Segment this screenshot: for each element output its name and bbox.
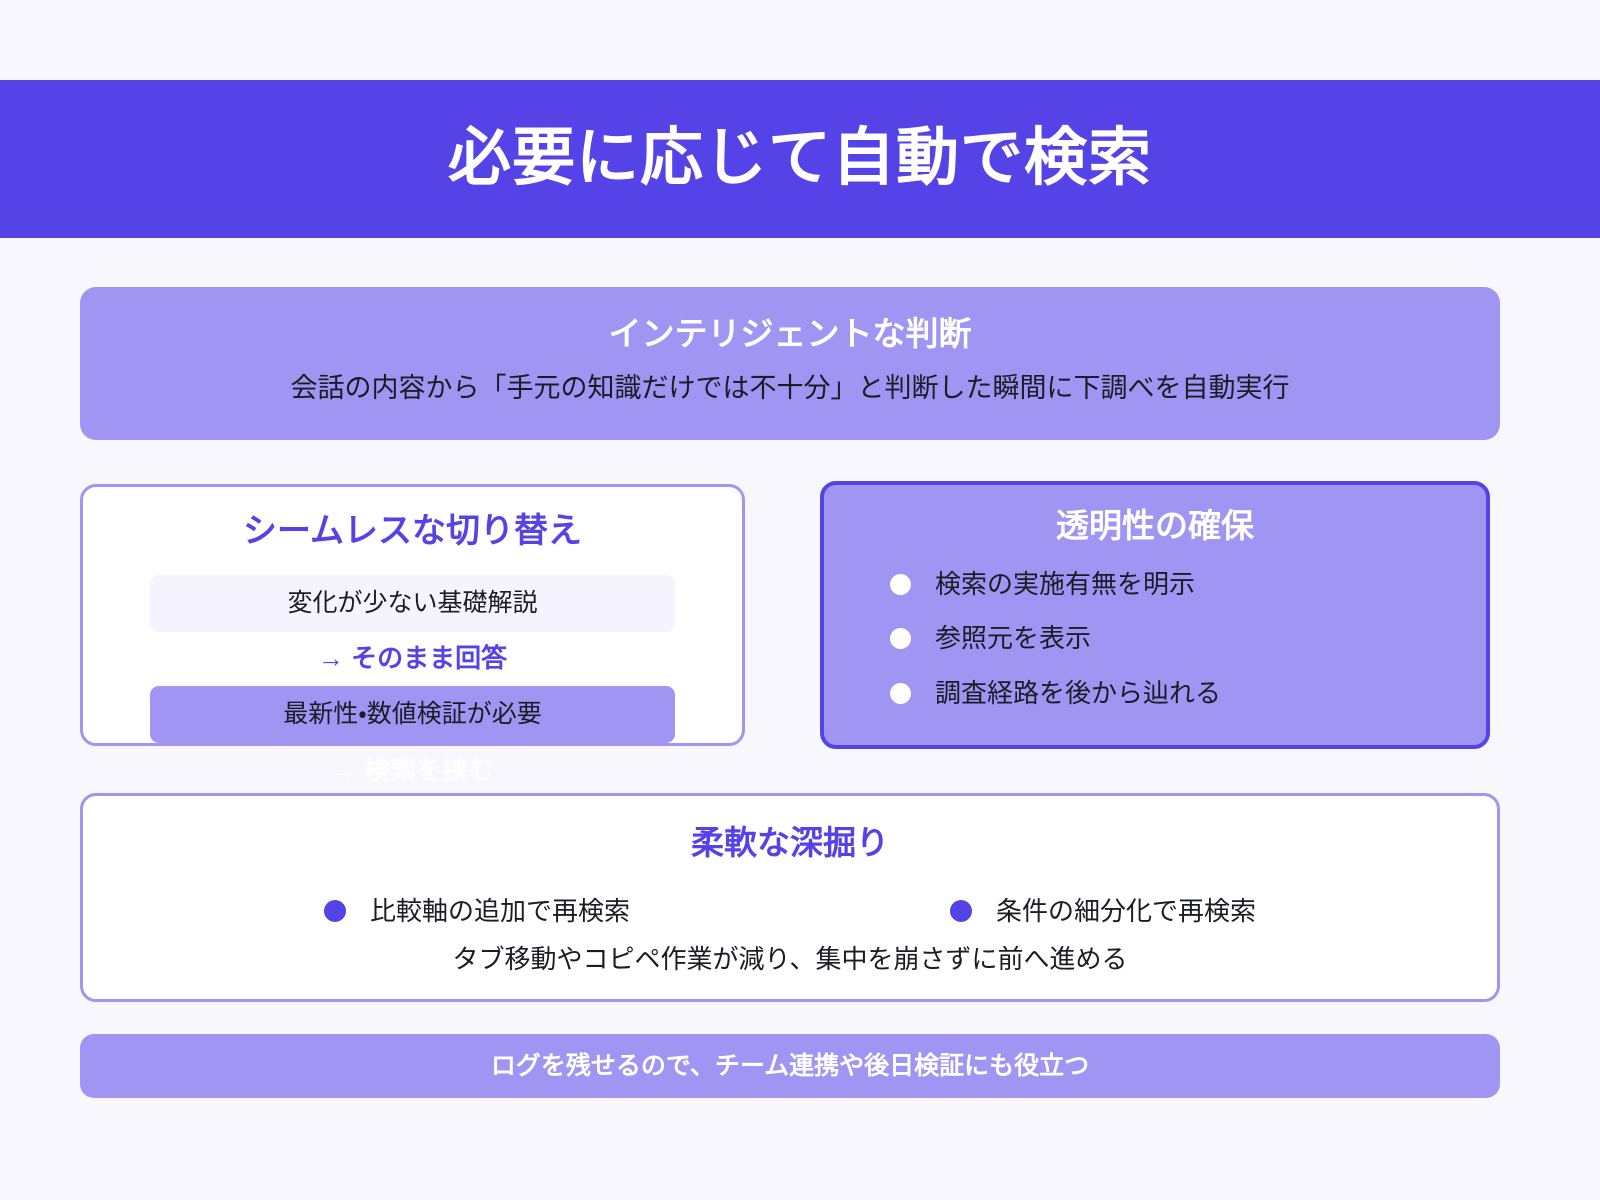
footer-text: ログを残せるので、チーム連携や後日検証にも役立つ — [491, 1051, 1089, 1081]
intelligent-judgement-card: インテリジェントな判断 会話の内容から「手元の知識だけでは不十分」と判断した瞬間… — [80, 287, 1500, 440]
deep-dive-bullet-label: 条件の細分化で再検索 — [996, 895, 1256, 928]
deep-dive-bullet-label: 比較軸の追加で再検索 — [370, 895, 630, 928]
switching-flow: 変化が少ない基礎解説 → そのまま回答 最新性・数値検証が必要 → 検索を挟む — [83, 575, 742, 786]
slide-root: 必要に応じて自動で検索 インテリジェントな判断 会話の内容から「手元の知識だけで… — [0, 0, 1600, 1200]
flow-arrow-insert-search: → 検索を挟む — [83, 755, 742, 786]
bullet-dot-icon — [950, 900, 972, 922]
flexible-deep-dive-card: 柔軟な深掘り 比較軸の追加で再検索 条件の細分化で再検索 タブ移動やコピペ作業が… — [80, 793, 1500, 1002]
transparency-bullet-label: 参照元を表示 — [935, 622, 1091, 655]
list-item: 参照元を表示 — [890, 622, 1486, 655]
seamless-switching-title: シームレスな切り替え — [83, 509, 742, 553]
intelligent-judgement-body: 会話の内容から「手元の知識だけでは不十分」と判断した瞬間に下調べを自動実行 — [80, 370, 1500, 406]
list-item: 調査経路を後から辿れる — [890, 677, 1486, 710]
flow-chip-static-answer: 変化が少ない基礎解説 — [150, 575, 675, 632]
list-item: 検索の実施有無を明示 — [890, 568, 1486, 601]
footer-banner: ログを残せるので、チーム連携や後日検証にも役立つ — [80, 1034, 1500, 1098]
list-item: 比較軸の追加で再検索 — [324, 895, 630, 928]
bullet-dot-icon — [890, 574, 911, 595]
flexible-deep-dive-title: 柔軟な深掘り — [83, 822, 1497, 865]
flow-arrow-direct-answer: → そのまま回答 — [83, 643, 742, 674]
seamless-switching-content: シームレスな切り替え 変化が少ない基礎解説 → そのまま回答 最新性・数値検証が… — [83, 487, 742, 786]
bullet-dot-icon — [890, 683, 911, 704]
transparency-title: 透明性の確保 — [824, 505, 1486, 548]
flexible-deep-dive-caption: タブ移動やコピペ作業が減り、集中を崩さずに前へ進める — [83, 943, 1497, 976]
flow-chip-needs-verification: 最新性・数値検証が必要 — [150, 686, 675, 743]
transparency-bullet-label: 調査経路を後から辿れる — [935, 677, 1221, 710]
page-title: 必要に応じて自動で検索 — [448, 124, 1152, 193]
bullet-dot-icon — [890, 628, 911, 649]
list-item: 条件の細分化で再検索 — [950, 895, 1256, 928]
deep-dive-bullet-list: 比較軸の追加で再検索 条件の細分化で再検索 — [83, 895, 1497, 928]
transparency-bullet-label: 検索の実施有無を明示 — [935, 568, 1195, 601]
bullet-dot-icon — [324, 900, 346, 922]
transparency-bullet-list: 検索の実施有無を明示 参照元を表示 調査経路を後から辿れる — [824, 568, 1486, 710]
header-banner: 必要に応じて自動で検索 — [0, 80, 1600, 238]
intelligent-judgement-title: インテリジェントな判断 — [80, 313, 1500, 356]
seamless-switching-card: シームレスな切り替え 変化が少ない基礎解説 → そのまま回答 最新性・数値検証が… — [80, 484, 745, 746]
transparency-card: 透明性の確保 検索の実施有無を明示 参照元を表示 調査経路を後から辿れる — [820, 481, 1490, 749]
